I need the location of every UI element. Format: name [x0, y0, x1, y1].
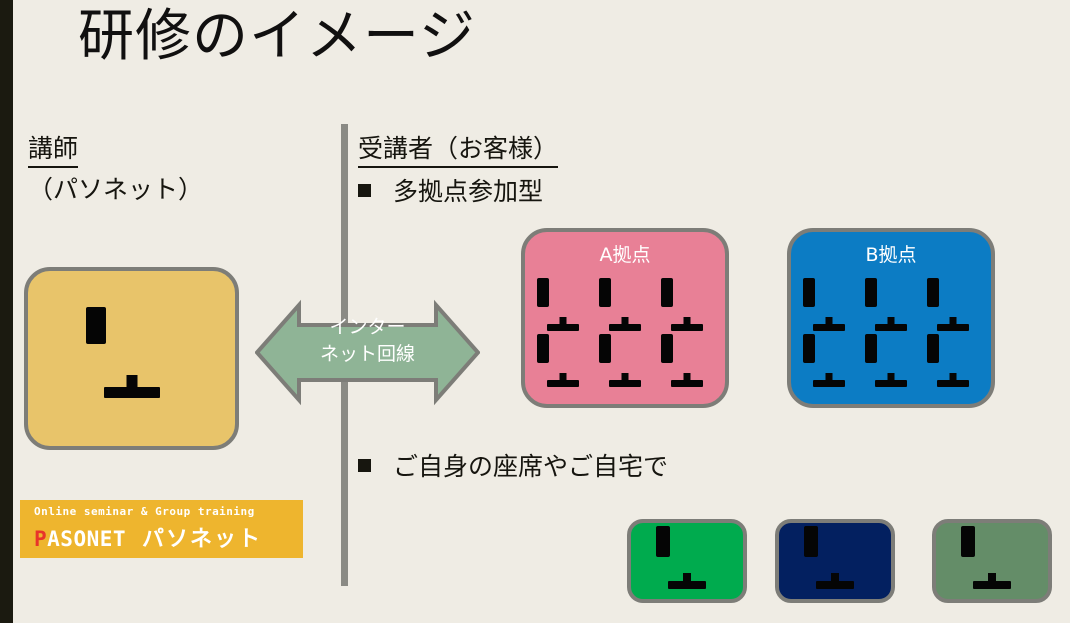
- bullet-square-icon: [358, 184, 371, 197]
- connector-label-line2: ネット回線: [255, 341, 480, 368]
- logo-brand-initial: P: [34, 527, 47, 551]
- monitor-icon: [537, 284, 589, 332]
- logo-brand: PASONET パソネット: [34, 521, 303, 553]
- monitor-icon: [656, 533, 718, 590]
- connector-label: インター ネット回線: [255, 314, 480, 368]
- monitor-icon: [927, 284, 979, 332]
- attendee-heading: 受講者（お客様）: [358, 129, 558, 168]
- monitor-icon: [661, 284, 713, 332]
- logo-tagline: Online seminar & Group training: [34, 505, 303, 518]
- monitor-icon: [86, 317, 178, 401]
- bullet-square-icon: [358, 459, 371, 472]
- monitor-icon: [804, 533, 866, 590]
- instructor-heading: 講師: [28, 129, 78, 168]
- logo-brand-jp: パソネット: [142, 521, 262, 553]
- monitor-icon: [865, 284, 917, 332]
- individual-card-green: [627, 519, 747, 603]
- left-edge-bar: [0, 0, 13, 623]
- site-label: A拠点: [525, 240, 725, 267]
- logo-brand-text: PASONET: [34, 527, 126, 551]
- monitor-icon: [599, 284, 651, 332]
- bullet-multi-site: 多拠点参加型: [358, 172, 543, 208]
- page-title: 研修のイメージ: [78, 2, 476, 72]
- bullet-label: 多拠点参加型: [393, 172, 543, 208]
- slide-canvas: 研修のイメージ 講師 （パソネット） Online seminar & Grou…: [0, 0, 1070, 623]
- monitor-icon: [961, 533, 1023, 590]
- site-card-a: A拠点: [521, 228, 729, 408]
- individual-card-navy: [775, 519, 895, 603]
- monitor-grid: [537, 284, 713, 388]
- logo-brand-rest: ASONET: [47, 527, 126, 551]
- monitor-icon: [803, 340, 855, 388]
- monitor-icon: [599, 340, 651, 388]
- monitor-icon: [537, 340, 589, 388]
- site-card-b: B拠点: [787, 228, 995, 408]
- monitor-icon: [803, 284, 855, 332]
- site-label: B拠点: [791, 240, 991, 267]
- connector-label-line1: インター: [255, 314, 480, 341]
- pasonet-logo: Online seminar & Group training PASONET …: [20, 500, 303, 558]
- bullet-label: ご自身の座席やご自宅で: [393, 447, 668, 483]
- monitor-grid: [803, 284, 979, 388]
- individual-card-sage: [932, 519, 1052, 603]
- instructor-card: [24, 267, 239, 450]
- monitor-icon: [927, 340, 979, 388]
- internet-connector: インター ネット回線: [255, 295, 480, 410]
- instructor-subheading: （パソネット）: [28, 170, 203, 206]
- monitor-icon: [661, 340, 713, 388]
- bullet-own-seat: ご自身の座席やご自宅で: [358, 447, 668, 483]
- monitor-icon: [865, 340, 917, 388]
